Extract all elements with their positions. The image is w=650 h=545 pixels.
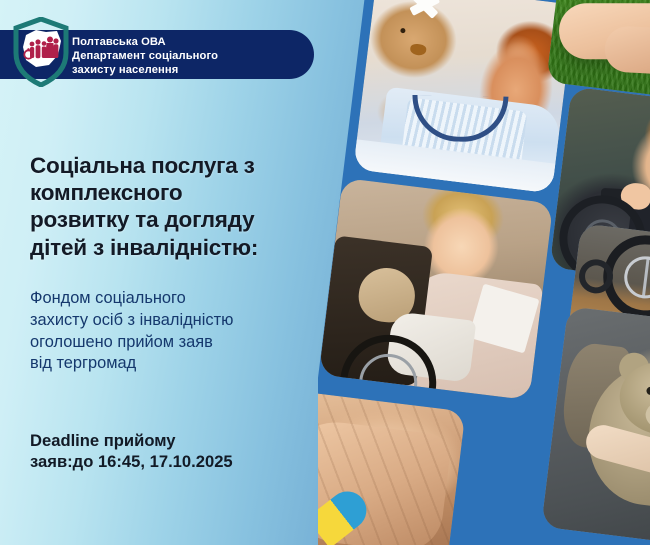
- header-line-3: захисту населення: [72, 63, 322, 77]
- photo-mother-and-boy-reading: [319, 178, 554, 400]
- header-title: Полтавська ОВА Департамент соціального з…: [72, 30, 322, 82]
- poster: Полтавська ОВА Департамент соціального з…: [0, 0, 650, 545]
- header-line-1: Полтавська ОВА: [72, 35, 322, 49]
- deadline-line-1: Deadline прийому: [30, 430, 330, 451]
- header-line-2: Департамент соціального: [72, 49, 322, 63]
- headline-line-4: дітей з інвалідністю:: [30, 234, 330, 261]
- subtext-line-3: оголошено прийом заяв: [30, 332, 322, 354]
- deadline-text: Deadline прийому заяв:до 16:45, 17.10.20…: [30, 430, 330, 472]
- headline-line-3: розвитку та догляду: [30, 206, 330, 233]
- photo-collage: [318, 0, 650, 545]
- subtext-line-2: захисту осіб з інвалідністю: [30, 310, 322, 332]
- subtext: Фондом соціального захисту осіб з інвалі…: [30, 288, 322, 375]
- subtext-line-1: Фондом соціального: [30, 288, 322, 310]
- photo-hands-holding-ukrainian-heart: [318, 390, 466, 545]
- subtext-line-4: від тергромад: [30, 353, 322, 375]
- headline-line-2: комплексного: [30, 179, 330, 206]
- poltava-social-protection-shield-logo: [12, 17, 70, 87]
- headline-line-1: Соціальна послуга з: [30, 152, 330, 179]
- deadline-line-2: заяв:до 16:45, 17.10.2025: [30, 451, 330, 472]
- headline: Соціальна послуга з комплексного розвитк…: [30, 152, 330, 261]
- photo-boy-in-bed-with-teddy-and-stethoscope: [353, 0, 575, 193]
